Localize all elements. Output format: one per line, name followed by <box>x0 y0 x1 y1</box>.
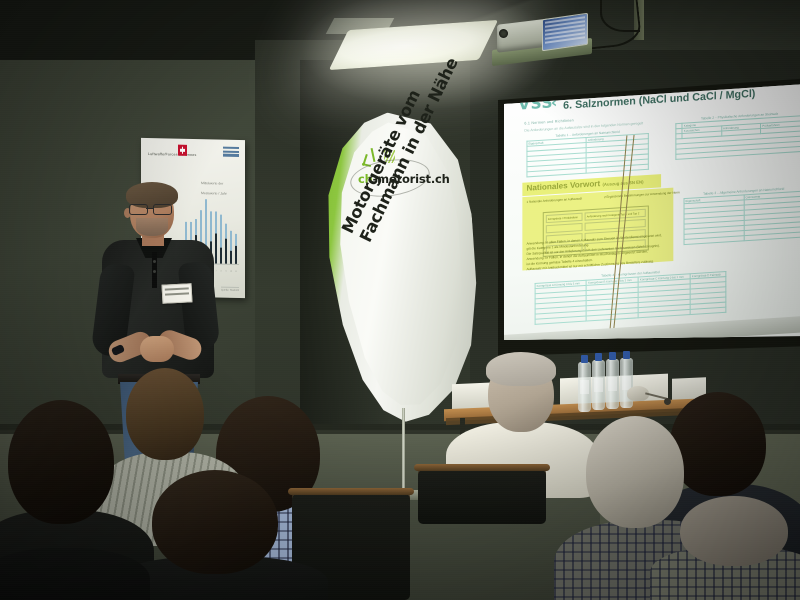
slide-table-2: Tabelle 2 – Physikalische Anforderungen … <box>675 110 800 160</box>
swiss-flag-icon <box>178 145 187 156</box>
list-item <box>0 520 140 600</box>
chart-bar-upper <box>235 234 237 246</box>
attendee-foreground-silhouette <box>0 548 150 600</box>
attendee-hair <box>486 352 556 386</box>
name-badge <box>162 283 193 304</box>
presentation-room-photo: VSS‹ 6. Salznormen (NaCl und CaCl / MgCl… <box>0 0 800 600</box>
sponsor-logo-block <box>223 147 239 158</box>
chair-rim <box>414 464 550 471</box>
poster-org-text: Luftwaffe/Forces aériennes <box>148 152 196 157</box>
avatar <box>680 496 788 566</box>
water-bottle <box>592 360 605 410</box>
list-item <box>660 506 800 600</box>
presenter-beard <box>136 218 168 236</box>
chart-x-label: 10 <box>230 271 232 273</box>
chart-bar <box>235 234 237 264</box>
chart-bar-lower <box>230 250 232 263</box>
banner-pole <box>402 408 405 494</box>
auditorium-chair <box>418 468 546 524</box>
slide-table-4: Tabelle 4 – Korngrössen der Auftaumittel… <box>535 266 727 325</box>
projector-control-display <box>542 13 588 51</box>
water-bottle <box>606 359 619 409</box>
glasses-icon <box>128 204 174 214</box>
presenter-hands <box>140 336 174 362</box>
chart-x-label: 11 <box>235 271 237 273</box>
chart-bar-lower <box>235 246 237 264</box>
table-header-cell: Korngrösse / Produktform <box>546 213 583 223</box>
list-item <box>132 470 312 600</box>
slide-table-3: Tabelle 3 – Allgemeine Anforderungen an … <box>684 185 800 245</box>
avatar <box>8 400 114 524</box>
chart-bar-upper <box>230 231 232 250</box>
projector-lens-icon <box>499 29 508 38</box>
water-bottle <box>620 358 633 408</box>
avatar <box>152 470 278 574</box>
chart-bar <box>230 231 232 264</box>
